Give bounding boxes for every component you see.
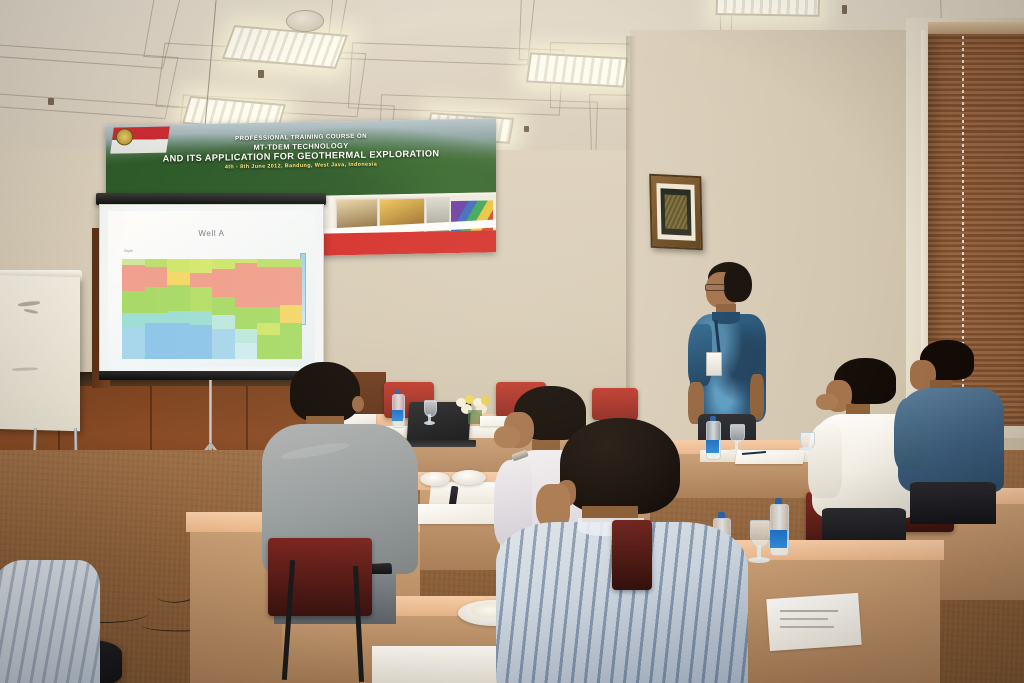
well-log-column [212,259,235,359]
well-log-segment [235,329,258,343]
well-log-segment [167,323,190,359]
well-log-segment [167,311,190,323]
well-log-column [145,259,168,359]
well-log-segment [212,315,235,329]
well-log-segment [122,291,145,313]
chair[interactable] [612,520,652,590]
sprinkler-icon [842,5,847,14]
well-log-column [122,259,145,359]
document-text-line [780,610,838,612]
picture-mat [656,183,695,241]
picture-art [660,188,691,235]
well-log-segment [122,327,145,359]
well-log-column [167,259,190,359]
well-log-segment [145,259,168,267]
chart-axis-label: Depth [124,249,133,253]
sprinkler-icon [524,126,529,132]
attendee-denim [892,340,1012,520]
presenter-hair-back [724,266,752,302]
presenter-arm [750,374,764,420]
well-log-segment [145,267,168,287]
glasses-icon [705,284,725,291]
slide-title: Well A [108,229,315,238]
ceiling-light [715,0,820,17]
well-log-segment [235,343,258,359]
attendee-denim-sleeve [894,398,926,470]
well-log-segment [190,273,213,287]
well-log-segment [212,329,235,359]
well-log-segment [145,323,168,359]
well-log-segment [167,259,190,271]
well-log-column [257,259,280,359]
well-log-segment [167,271,190,285]
well-log-segment [280,267,303,305]
well-log-chart: Depth Res [122,259,302,359]
well-log-segment [280,323,303,359]
well-log-segment [212,259,235,269]
ceiling-light [526,52,628,87]
flip-chart-paper [0,275,80,431]
well-log-segment [257,259,280,267]
well-log-segment [280,259,303,267]
well-log-segment [257,335,280,359]
projection-screen: Well A Depth Res [99,204,324,374]
attendee-white-hand [816,394,838,410]
well-log-segment [190,287,213,311]
attendee-gray-hair [290,362,360,422]
well-log-segment [190,325,213,359]
well-log-segment [145,287,168,313]
document-text-line [780,626,834,628]
well-log-segment [235,307,258,329]
well-log-column [235,259,258,359]
attendee-edge [0,560,100,683]
framed-picture [649,174,703,251]
well-log-segment [212,297,235,315]
well-log-segment [167,285,190,311]
well-log-segment [280,305,303,323]
well-log-segment [235,263,258,307]
attendee-stripe-hair [560,418,680,514]
well-log-segment [190,259,213,273]
well-log-segment [212,269,235,297]
attendee-denim-trousers [910,482,996,524]
well-log-segment [122,313,145,327]
well-log-segment [145,313,168,323]
attendee-gray-ear [352,396,364,412]
tripod-pole [209,380,212,452]
document[interactable] [766,593,861,651]
well-log-column [280,259,303,359]
well-log-segment [122,265,145,291]
name-badge [706,352,722,376]
attendee-edge-shirt [0,560,100,683]
sprinkler-icon [48,98,54,105]
document-text-line [780,618,828,620]
presentation-slide: Well A Depth Res [108,211,315,367]
well-log-segment [190,311,213,325]
sprinkler-icon [258,70,264,78]
blind-headrail [928,22,1024,34]
well-log-column [190,259,213,359]
picture-art-detail [665,194,688,229]
well-log-segment [257,307,280,323]
photo-scene: PROFESSIONAL TRAINING COURSE ON MT-TDEM … [0,0,1024,683]
water-bottle[interactable] [770,498,787,554]
well-log-segment [257,323,280,335]
well-log-segment [257,267,280,307]
